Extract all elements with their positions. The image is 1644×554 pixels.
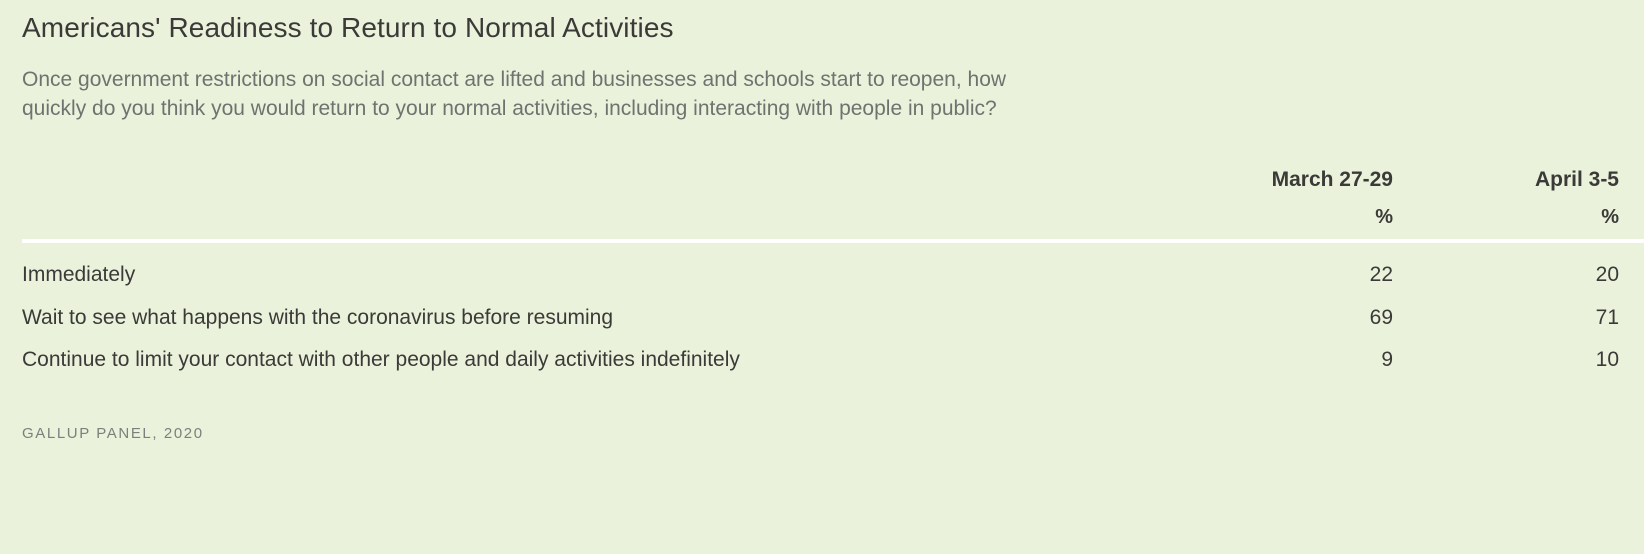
table-header-row: March 27-29 April 3-5 (22, 148, 1644, 192)
results-table: March 27-29 April 3-5 % % Immediately (22, 148, 1644, 381)
column-header-label (22, 148, 1192, 192)
row-label: Wait to see what happens with the corona… (22, 297, 1192, 339)
table-row: Continue to limit your contact with othe… (22, 339, 1644, 381)
subtitle-line-2: quickly do you think you would return to… (22, 94, 1302, 124)
subtitle-line-1: Once government restrictions on social c… (22, 65, 1302, 95)
row-value-march: 69 (1192, 297, 1418, 339)
row-value-march: 22 (1192, 243, 1418, 297)
table-body: Immediately 22 20 Wait to see what happe… (22, 243, 1644, 381)
row-value-april: 71 (1418, 297, 1644, 339)
chart-inner: Americans' Readiness to Return to Normal… (0, 0, 1644, 442)
table-unit-row: % % (22, 192, 1644, 239)
column-header-april: April 3-5 (1418, 148, 1644, 192)
row-label: Continue to limit your contact with othe… (22, 339, 1192, 381)
chart-card: Americans' Readiness to Return to Normal… (0, 0, 1644, 554)
unit-label-april: % (1418, 192, 1644, 239)
source-note: GALLUP PANEL, 2020 (22, 381, 1644, 442)
table-row: Immediately 22 20 (22, 243, 1644, 297)
unit-label-march: % (1192, 192, 1418, 239)
unit-label-blank (22, 192, 1192, 239)
row-value-march: 9 (1192, 339, 1418, 381)
page-title: Americans' Readiness to Return to Normal… (22, 0, 1644, 45)
row-value-april: 20 (1418, 243, 1644, 297)
row-label: Immediately (22, 243, 1192, 297)
table-head: March 27-29 April 3-5 % % (22, 148, 1644, 243)
chart-subtitle: Once government restrictions on social c… (22, 45, 1302, 125)
column-header-march: March 27-29 (1192, 148, 1418, 192)
table-row: Wait to see what happens with the corona… (22, 297, 1644, 339)
row-value-april: 10 (1418, 339, 1644, 381)
